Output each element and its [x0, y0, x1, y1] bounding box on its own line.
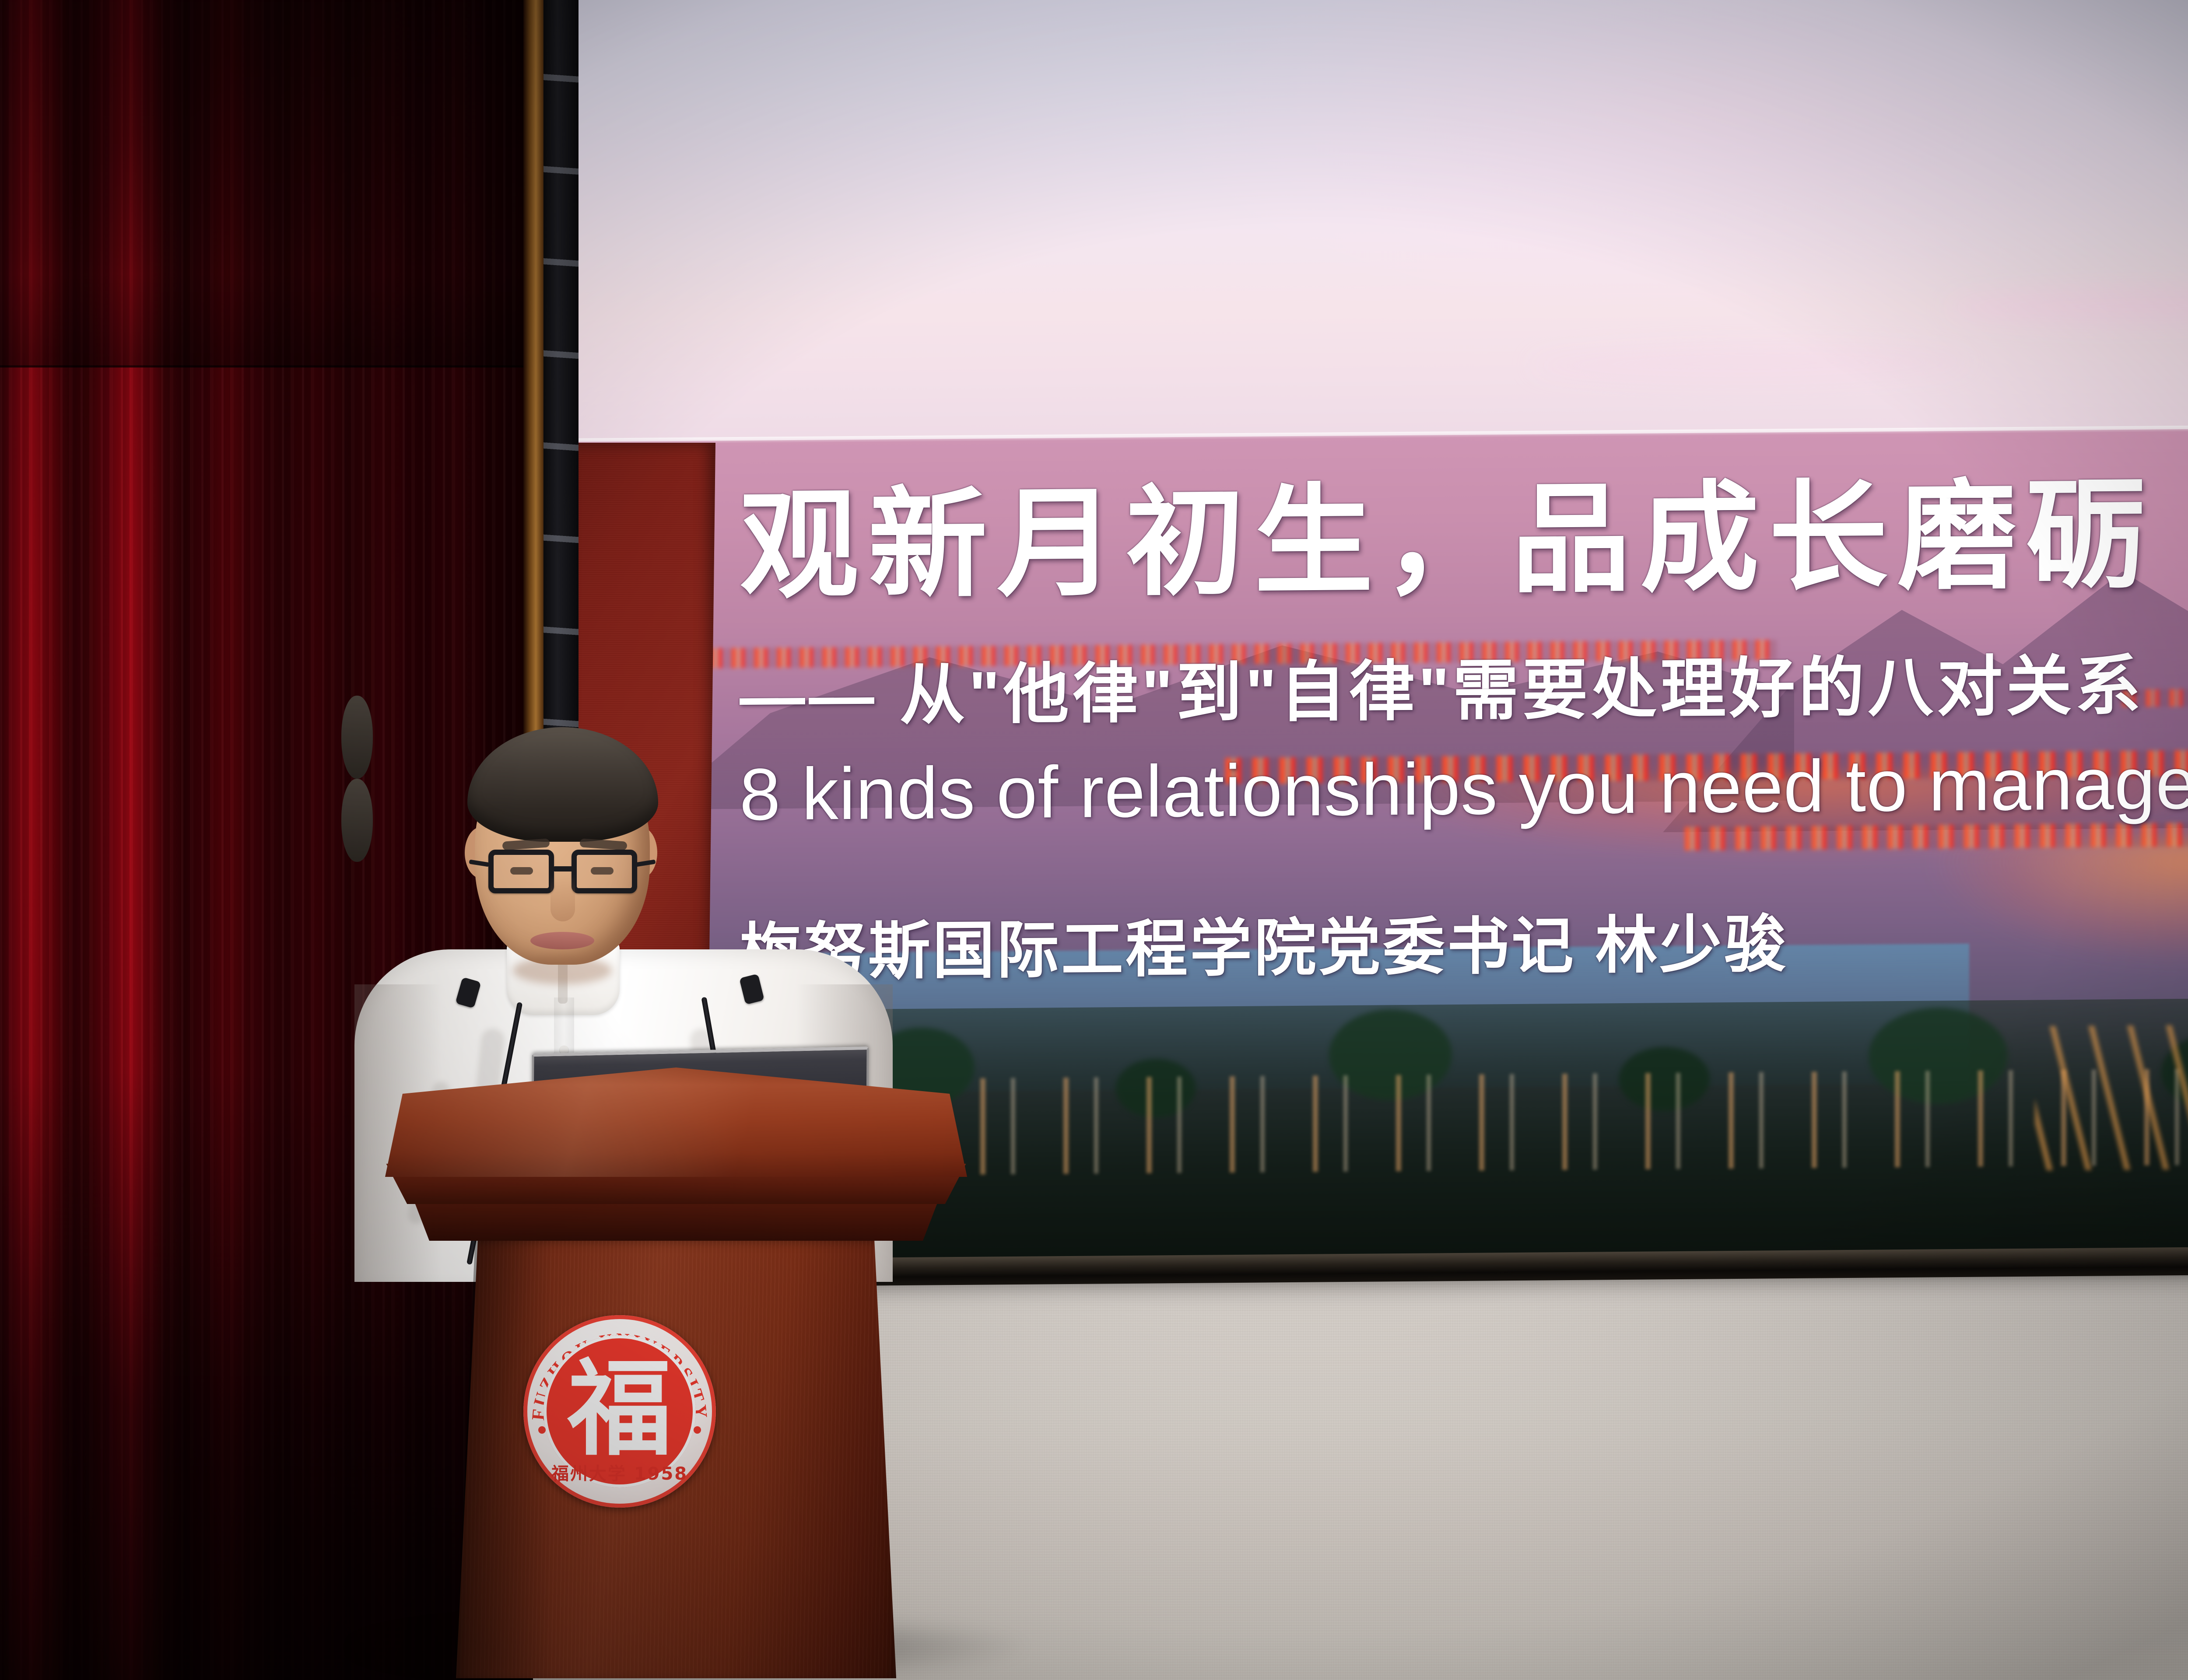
town-lights: [963, 1067, 2188, 1175]
hair: [467, 727, 658, 842]
nose: [551, 875, 575, 921]
town-lights: [2035, 1022, 2188, 1170]
auditorium-photo: 观新月初生，品成长磨砺 —— 从"他律"到"自律"需要处理好的八对关系 8 ki…: [0, 0, 2188, 1680]
glasses-lens: [488, 850, 554, 893]
lectern-top-sheen: [385, 1067, 967, 1177]
glasses-bridge: [553, 866, 573, 871]
glasses-lens: [572, 850, 637, 893]
emblem-bottom-label: 福州大学 1958: [523, 1459, 716, 1485]
chin-shadow: [513, 956, 612, 984]
curtain-valance: [0, 0, 533, 367]
hair-side: [341, 696, 373, 779]
university-emblem: FUZHOU UNIVERSITY 福 福州大学 1958: [523, 1315, 716, 1508]
sky-glow: [569, 0, 2188, 451]
city-lights-strip: [2122, 686, 2188, 707]
mouth: [530, 932, 594, 949]
lectern: FUZHOU UNIVERSITY 福 福州大学 1958: [385, 1067, 967, 1680]
hair-side: [341, 779, 373, 862]
lectern-band: [408, 1199, 944, 1241]
